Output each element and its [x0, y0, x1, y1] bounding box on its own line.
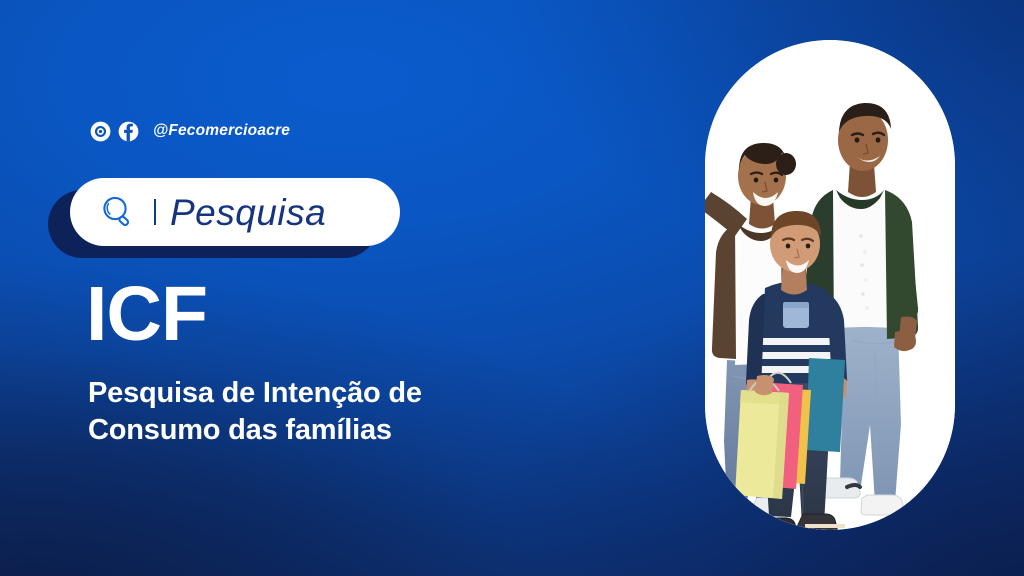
social-handle-row: @Fecomercioacre: [90, 119, 290, 143]
pesquisa-badge-label: Pesquisa: [170, 194, 326, 231]
pesquisa-badge-divider: [154, 199, 156, 225]
magnifier-icon: [98, 192, 138, 232]
pesquisa-badge[interactable]: Pesquisa: [48, 178, 400, 258]
family-shopping-photo: [705, 40, 955, 530]
facebook-icon[interactable]: [118, 121, 139, 142]
page-subtitle: Pesquisa de Intenção de Consumo das famí…: [88, 375, 518, 449]
promo-banner: @Fecomercioacre Pesquisa ICF Pesquisa de…: [0, 0, 1024, 576]
instagram-icon[interactable]: [90, 121, 111, 142]
page-title: ICF: [86, 276, 207, 353]
social-handle-text: @Fecomercioacre: [153, 122, 290, 140]
pesquisa-badge-pill[interactable]: Pesquisa: [70, 178, 400, 246]
